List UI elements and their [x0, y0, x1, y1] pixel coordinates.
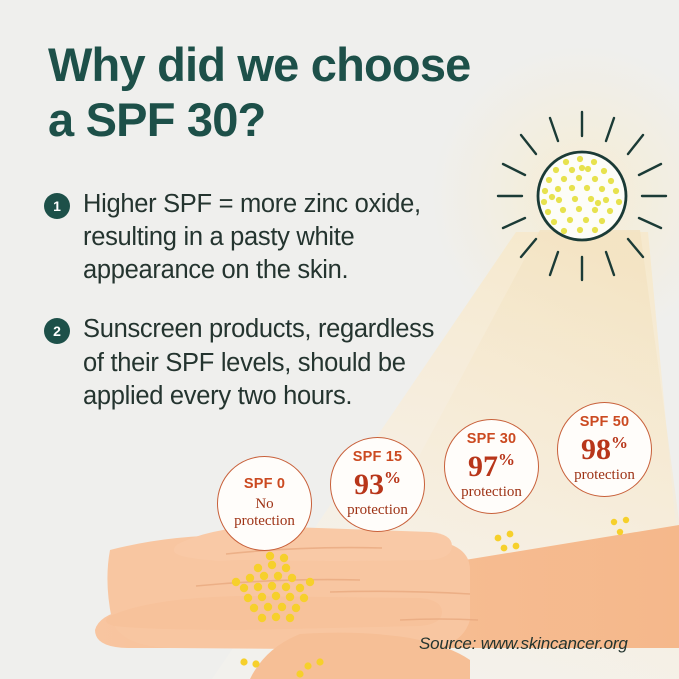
numbered-points-list: 1 Higher SPF = more zinc oxide, resultin… — [44, 188, 564, 439]
point-text-1: Higher SPF = more zinc oxide, resulting … — [83, 188, 421, 287]
list-item: 2 Sunscreen products, regardless of thei… — [44, 313, 564, 412]
spf-label-30: SPF 30 — [467, 432, 517, 447]
list-item: 1 Higher SPF = more zinc oxide, resultin… — [44, 188, 564, 287]
spf-label-0: SPF 0 — [244, 477, 285, 492]
spf-label-15: SPF 15 — [353, 450, 403, 465]
spf-circle-50: SPF 50 98% protection — [557, 402, 652, 497]
spf-circle-0: SPF 0 No protection — [217, 456, 312, 551]
spf-circle-30: SPF 30 97% protection — [444, 419, 539, 514]
spf-sub-0: No protection — [234, 496, 295, 530]
spf-label-50: SPF 50 — [580, 415, 630, 430]
spf-sub-30: protection — [461, 484, 522, 501]
spf-value-15: 93% — [354, 469, 401, 500]
point-text-2: Sunscreen products, regardless of their … — [83, 313, 434, 412]
spf-sub-15: protection — [347, 502, 408, 519]
page-title: Why did we choose a SPF 30? — [48, 38, 608, 148]
infographic-canvas: Why did we choose a SPF 30? 1 Higher SPF… — [0, 0, 679, 679]
spf-value-50: 98% — [581, 434, 628, 465]
spf-sub-50: protection — [574, 467, 635, 484]
point-badge-2: 2 — [44, 318, 70, 344]
source-attribution: Source: www.skincancer.org — [419, 634, 628, 654]
spf-value-30: 97% — [468, 451, 515, 482]
point-badge-1: 1 — [44, 193, 70, 219]
spf-circle-15: SPF 15 93% protection — [330, 437, 425, 532]
